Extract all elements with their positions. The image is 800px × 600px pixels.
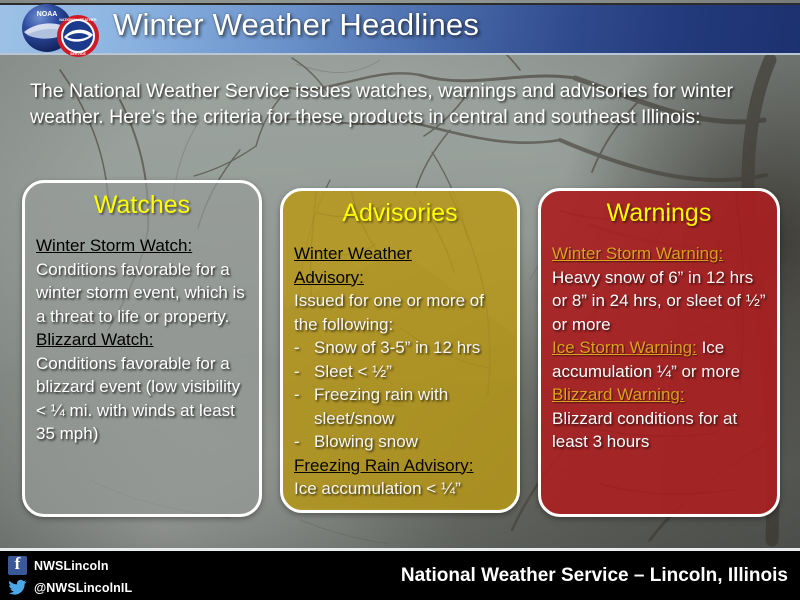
panel-watches-body: Winter Storm Watch:Conditions favorable … bbox=[36, 234, 248, 446]
warnings-subheading-blizzard-warning: Blizzard Warning: bbox=[552, 383, 685, 407]
watches-subheading-winter-storm-watch: Winter Storm Watch: bbox=[36, 234, 192, 258]
page-title: Winter Weather Headlines bbox=[113, 7, 479, 43]
bullet-marker: - bbox=[294, 360, 302, 384]
panel-watches-title: Watches bbox=[36, 191, 248, 220]
twitter-handle-label: @NWSLincolnIL bbox=[34, 581, 132, 595]
bullet-marker: - bbox=[294, 336, 302, 360]
bullet-marker: - bbox=[294, 383, 302, 430]
social-links: NWSLincoln @NWSLincolnIL bbox=[8, 556, 132, 597]
watches-item-1: Winter Storm Watch:Conditions favorable … bbox=[36, 234, 248, 328]
warnings-subheading-winter-storm-warning: Winter Storm Warning: bbox=[552, 242, 723, 266]
advisories-subheading-freezing-rain: Freezing Rain Advisory: bbox=[294, 454, 506, 478]
bullet-marker: - bbox=[294, 430, 302, 454]
svg-text:SERVICE: SERVICE bbox=[70, 52, 86, 56]
panel-watches: Watches Winter Storm Watch:Conditions fa… bbox=[22, 180, 262, 517]
list-item: -Freezing rain with sleet/snow bbox=[294, 383, 506, 430]
list-item: -Sleet < ½” bbox=[294, 360, 506, 384]
warnings-text-blizzard-warning: Blizzard conditions for at least 3 hours bbox=[552, 409, 737, 452]
advisories-bullet-list: -Snow of 3-5” in 12 hrs -Sleet < ½” -Fre… bbox=[294, 336, 506, 454]
warnings-text-winter-storm-warning: Heavy snow of 6” in 12 hrs or 8” in 24 h… bbox=[552, 268, 766, 334]
advisories-bullet-1: Snow of 3-5” in 12 hrs bbox=[314, 336, 480, 360]
warnings-item-3: Blizzard Warning:Blizzard conditions for… bbox=[552, 383, 766, 454]
panel-advisories-body: Winter Weather Advisory: Issued for one … bbox=[294, 242, 506, 501]
footer-bar: NWSLincoln @NWSLincolnIL National Weathe… bbox=[0, 548, 800, 600]
watches-text-winter-storm-watch: Conditions favorable for a winter storm … bbox=[36, 260, 245, 326]
advisories-subheading-line2: Advisory: bbox=[294, 266, 506, 290]
twitter-bird-icon[interactable] bbox=[8, 578, 27, 597]
advisories-lead-text: Issued for one or more of the following: bbox=[294, 289, 506, 336]
watches-subheading-blizzard-watch: Blizzard Watch: bbox=[36, 328, 153, 352]
panel-advisories: Advisories Winter Weather Advisory: Issu… bbox=[280, 188, 520, 513]
panel-advisories-title: Advisories bbox=[294, 199, 506, 228]
watches-text-blizzard-watch: Conditions favorable for a blizzard even… bbox=[36, 354, 240, 444]
advisories-bullet-2: Sleet < ½” bbox=[314, 360, 392, 384]
svg-text:NOAA: NOAA bbox=[37, 11, 58, 18]
panel-warnings: Warnings Winter Storm Warning:Heavy snow… bbox=[538, 188, 780, 517]
advisories-bullet-4: Blowing snow bbox=[314, 430, 418, 454]
panel-warnings-body: Winter Storm Warning:Heavy snow of 6” in… bbox=[552, 242, 766, 454]
panel-warnings-title: Warnings bbox=[552, 199, 766, 228]
warnings-subheading-ice-storm-warning: Ice Storm Warning: bbox=[552, 336, 697, 360]
intro-paragraph: The National Weather Service issues watc… bbox=[30, 78, 750, 130]
advisories-subheading-line1: Winter Weather bbox=[294, 242, 506, 266]
nws-seal-icon: NATIONAL WEATHER SERVICE bbox=[56, 14, 100, 58]
warnings-item-1: Winter Storm Warning:Heavy snow of 6” in… bbox=[552, 242, 766, 336]
svg-text:NATIONAL WEATHER: NATIONAL WEATHER bbox=[59, 18, 97, 22]
facebook-link[interactable]: NWSLincoln bbox=[8, 556, 132, 575]
list-item: -Blowing snow bbox=[294, 430, 506, 454]
advisories-bullet-3: Freezing rain with sleet/snow bbox=[314, 383, 506, 430]
facebook-icon[interactable] bbox=[8, 556, 27, 575]
office-title: National Weather Service – Lincoln, Illi… bbox=[401, 565, 788, 587]
slide: NOAA NATIONAL WEATHER SERVICE Winter Wea… bbox=[0, 0, 800, 600]
facebook-handle-label: NWSLincoln bbox=[34, 559, 109, 573]
watches-item-2: Blizzard Watch:Conditions favorable for … bbox=[36, 328, 248, 446]
warnings-item-2: Ice Storm Warning: Ice accumulation ¼” o… bbox=[552, 336, 766, 383]
twitter-link[interactable]: @NWSLincolnIL bbox=[8, 578, 132, 597]
list-item: -Snow of 3-5” in 12 hrs bbox=[294, 336, 506, 360]
advisories-text-freezing-rain: Ice accumulation < ¼” bbox=[294, 477, 506, 501]
